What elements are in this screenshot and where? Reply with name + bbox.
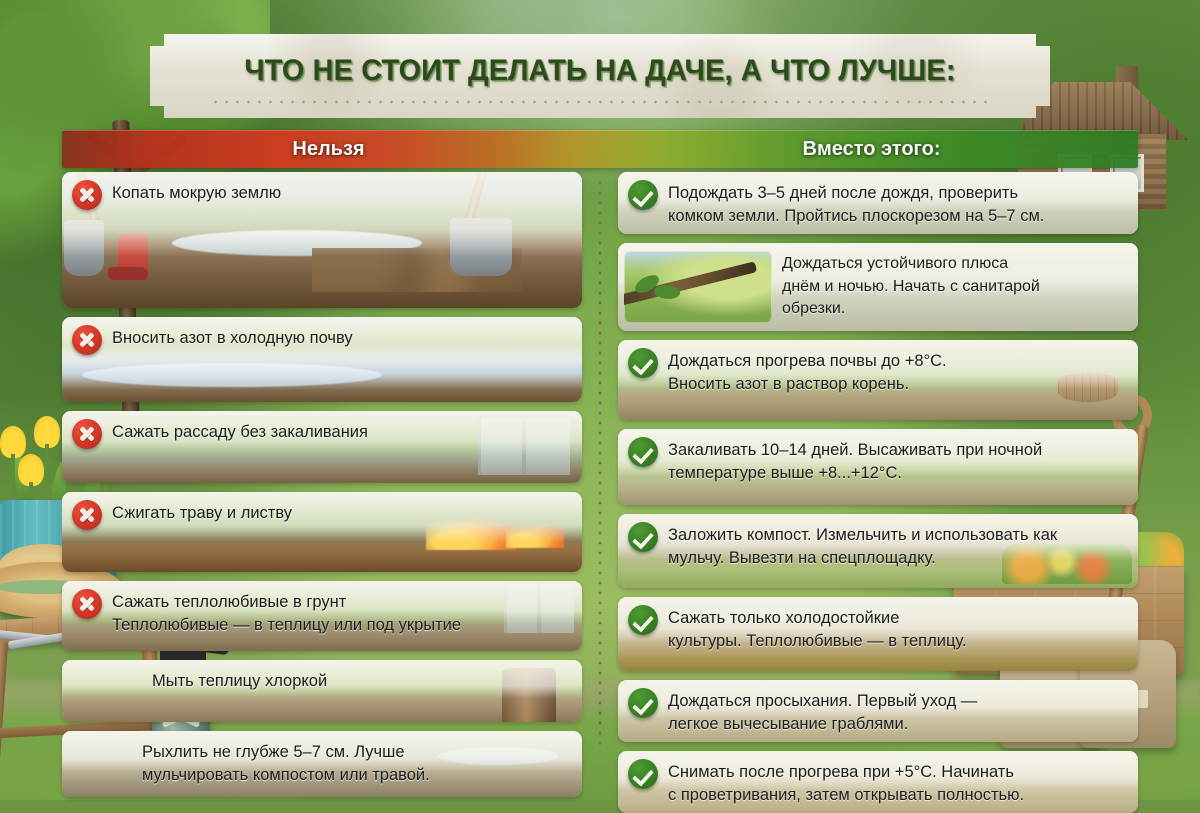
column-header-bad: Нельзя <box>62 138 595 161</box>
list-item[interactable]: Снимать после прогрева при +5°C. Начинат… <box>618 751 1138 813</box>
card-body: Заложить компост. Измельчить и использов… <box>618 514 1138 579</box>
list-item[interactable]: Закаливать 10–14 дней. Высаживать при но… <box>618 429 1138 505</box>
card-body: Рыхлить не глубже 5–7 см. Лучше мульчиро… <box>62 731 582 796</box>
list-item[interactable]: Копать мокрую землю <box>62 172 582 308</box>
column-header-bar: Нельзя Вместо этого: <box>62 130 1138 168</box>
list-item-text: Закаливать 10–14 дней. Высаживать при но… <box>668 437 1042 486</box>
list-item[interactable]: Сажать рассаду без закаливания <box>62 411 582 483</box>
card-body: Сажать рассаду без закаливания <box>62 411 582 457</box>
list-item[interactable]: Сжигать траву и листву <box>62 492 582 572</box>
card-body: Вносить азот в холодную почву <box>62 317 582 363</box>
x-circle-icon <box>72 180 102 210</box>
list-item[interactable]: Подождать 3–5 дней после дождя, проверит… <box>618 172 1138 234</box>
list-item[interactable]: Мыть теплицу хлоркой <box>62 660 582 722</box>
list-item-text: Сажать только холодостойкие культуры. Те… <box>668 605 967 654</box>
list-item-text: Дождаться устойчивого плюса днём и ночью… <box>782 251 1040 321</box>
comparison-columns: Копать мокрую землю Вносить азот в холод… <box>62 172 1138 758</box>
card-body: Дождаться прогрева почвы до +8°C. Вносит… <box>618 340 1138 405</box>
page-title: ЧТО НЕ СТОИТ ДЕЛАТЬ НА ДАЧЕ, А ЧТО ЛУЧШЕ… <box>168 34 1032 88</box>
card-body: Сажать только холодостойкие культуры. Те… <box>618 597 1138 662</box>
title-banner: ЧТО НЕ СТОИТ ДЕЛАТЬ НА ДАЧЕ, А ЧТО ЛУЧШЕ… <box>150 34 1050 118</box>
list-item-text: Вносить азот в холодную почву <box>112 325 353 350</box>
list-item-text: Мыть теплицу хлоркой <box>152 668 327 693</box>
x-circle-icon <box>72 500 102 530</box>
check-circle-icon <box>628 522 658 552</box>
table-leg <box>0 642 8 793</box>
check-circle-icon <box>628 688 658 718</box>
list-item-text: Сажать теплолюбивые в грунт Теплолюбивые… <box>112 589 461 638</box>
list-item[interactable]: Сажать только холодостойкие культуры. Те… <box>618 597 1138 671</box>
list-item[interactable]: Сажать теплолюбивые в грунт Теплолюбивые… <box>62 581 582 651</box>
list-item-text: Подождать 3–5 дней после дождя, проверит… <box>668 180 1044 229</box>
card-body: Дождаться просыхания. Первый уход — легк… <box>618 680 1138 742</box>
list-item[interactable]: Вносить азот в холодную почву <box>62 317 582 402</box>
list-item-text: Заложить компост. Измельчить и использов… <box>668 522 1057 571</box>
list-item[interactable]: Дождаться просыхания. Первый уход — легк… <box>618 680 1138 742</box>
title-divider-dots <box>210 100 990 104</box>
list-item-text: Сжигать траву и листву <box>112 500 292 525</box>
card-body: Копать мокрую землю <box>62 172 582 218</box>
dotted-divider <box>599 178 602 752</box>
list-item[interactable]: Дождаться прогрева почвы до +8°C. Вносит… <box>618 340 1138 420</box>
list-item[interactable]: Рыхлить не глубже 5–7 см. Лучше мульчиро… <box>62 731 582 797</box>
list-item-text: Сажать рассаду без закаливания <box>112 419 368 444</box>
card-body: Снимать после прогрева при +5°C. Начинат… <box>618 751 1138 813</box>
card-body: Подождать 3–5 дней после дождя, проверит… <box>618 172 1138 234</box>
list-item-text: Копать мокрую землю <box>112 180 281 205</box>
card-body: Сжигать траву и листву <box>62 492 582 538</box>
column-divider-area <box>582 172 618 758</box>
good-practices-column: Подождать 3–5 дней после дождя, проверит… <box>618 172 1138 758</box>
card-body: Сажать теплолюбивые в грунт Теплолюбивые… <box>62 581 582 646</box>
list-item-text: Дождаться просыхания. Первый уход — легк… <box>668 688 977 737</box>
list-item-text: Дождаться прогрева почвы до +8°C. Вносит… <box>668 348 947 397</box>
x-circle-icon <box>72 419 102 449</box>
list-item-text: Рыхлить не глубже 5–7 см. Лучше мульчиро… <box>142 739 430 788</box>
pruned-branch-photo <box>624 251 772 323</box>
x-circle-icon <box>72 589 102 619</box>
check-circle-icon <box>628 605 658 635</box>
list-item[interactable]: Дождаться устойчивого плюса днём и ночью… <box>618 243 1138 331</box>
check-circle-icon <box>628 180 658 210</box>
check-circle-icon <box>628 437 658 467</box>
check-circle-icon <box>628 759 658 789</box>
list-item-text: Снимать после прогрева при +5°C. Начинат… <box>668 759 1024 808</box>
card-body: Мыть теплицу хлоркой <box>62 660 582 701</box>
card-body: Закаливать 10–14 дней. Высаживать при но… <box>618 429 1138 494</box>
card-body: Дождаться устойчивого плюса днём и ночью… <box>618 243 1138 331</box>
bad-practices-column: Копать мокрую землю Вносить азот в холод… <box>62 172 582 758</box>
column-header-good: Вместо этого: <box>605 138 1138 161</box>
x-circle-icon <box>72 325 102 355</box>
check-circle-icon <box>628 348 658 378</box>
list-item[interactable]: Заложить компост. Измельчить и использов… <box>618 514 1138 588</box>
